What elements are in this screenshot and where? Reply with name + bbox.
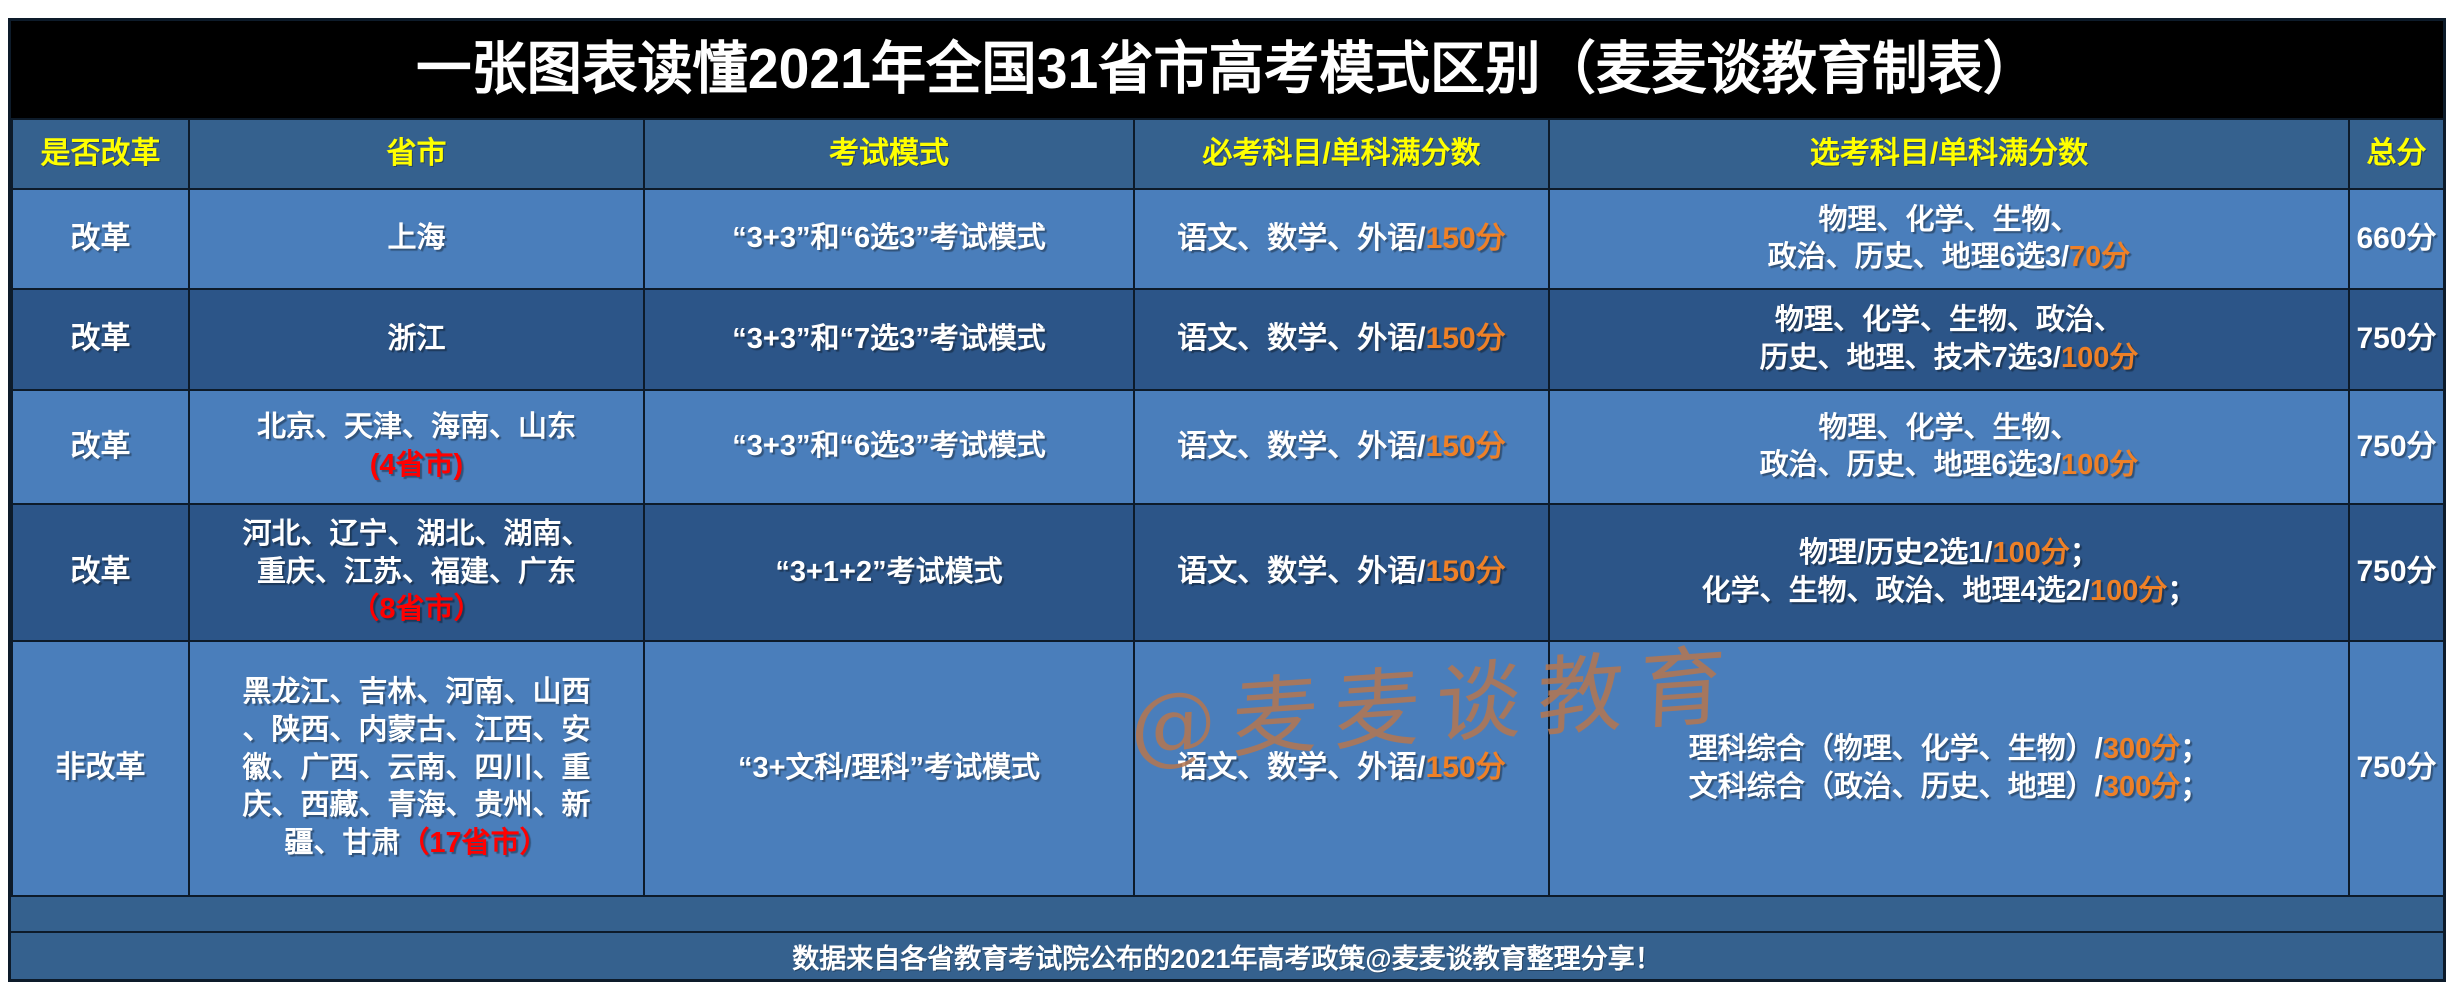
cell-provinces: 浙江 [189, 289, 644, 390]
optional-line: 物理/历史2选1/100分； [1554, 535, 2344, 572]
cell-total-score: 750分 [2349, 641, 2444, 896]
cell-optional-subjects: 物理、化学、生物、政治、 历史、地理、技术7选3/100分 [1549, 289, 2349, 390]
required-subject-list: 语文、数学、外语/ [1177, 222, 1425, 255]
page-title: 一张图表读懂2021年全国31省市高考模式区别（麦麦谈教育制表） [416, 41, 2038, 98]
province-line: 、陕西、内蒙古、江西、安 [194, 712, 639, 750]
optional-text: 政治、历史、地理6选3/ [1760, 449, 2061, 481]
cell-reform-status: 非改革 [12, 641, 189, 896]
cell-reform-status: 改革 [12, 189, 189, 289]
column-header-province: 省市 [189, 119, 644, 189]
optional-line: 化学、生物、政治、地理4选2/100分； [1554, 573, 2344, 610]
cell-exam-mode: “3+1+2”考试模式 [644, 504, 1134, 641]
required-score: 150分 [1426, 555, 1506, 588]
table-row: 改革 河北、辽宁、湖北、湖南、 重庆、江苏、福建、广东 （8省市） “3+1+2… [12, 504, 2444, 641]
cell-exam-mode: “3+3”和“6选3”考试模式 [644, 390, 1134, 504]
optional-line: 物理、化学、生物、 [1554, 202, 2344, 239]
cell-exam-mode: “3+3”和“6选3”考试模式 [644, 189, 1134, 289]
optional-text: 化学、生物、政治、地理4选2/ [1702, 575, 2090, 607]
cell-optional-subjects: 物理/历史2选1/100分； 化学、生物、政治、地理4选2/100分； [1549, 504, 2349, 641]
required-score: 150分 [1426, 322, 1506, 355]
optional-line: 文科综合（政治、历史、地理）/300分； [1554, 769, 2344, 806]
table-frame: 一张图表读懂2021年全国31省市高考模式区别（麦麦谈教育制表） 是否改革 省市… [8, 18, 2446, 982]
province-line: 河北、辽宁、湖北、湖南、 [194, 516, 639, 554]
optional-line: 理科综合（物理、化学、生物）/300分； [1554, 731, 2344, 768]
province-line: 疆、甘肃 [284, 827, 400, 859]
optional-line: 政治、历史、地理6选3/70分 [1554, 239, 2344, 276]
optional-score: 100分 [2061, 449, 2138, 481]
cell-reform-status: 改革 [12, 289, 189, 390]
optional-score: 70分 [2069, 241, 2130, 273]
optional-text: 政治、历史、地理6选3/ [1768, 241, 2069, 273]
optional-text: 物理、化学、生物、 [1818, 412, 2079, 444]
optional-line: 物理、化学、生物、政治、 [1554, 302, 2344, 339]
optional-score: 300分 [2103, 733, 2180, 765]
cell-provinces: 黑龙江、吉林、河南、山西 、陕西、内蒙古、江西、安 徽、广西、云南、四川、重 庆… [189, 641, 644, 896]
cell-optional-subjects: 物理、化学、生物、 政治、历史、地理6选3/70分 [1549, 189, 2349, 289]
table-row: 改革 浙江 “3+3”和“7选3”考试模式 语文、数学、外语/150分 物理、化… [12, 289, 2444, 390]
table-body: 改革 上海 “3+3”和“6选3”考试模式 语文、数学、外语/150分 物理、化… [12, 189, 2444, 896]
province-line: 黑龙江、吉林、河南、山西 [194, 674, 639, 712]
optional-text: 文科综合（政治、历史、地理）/ [1689, 771, 2103, 803]
cell-exam-mode: “3+3”和“7选3”考试模式 [644, 289, 1134, 390]
table-row: 改革 上海 “3+3”和“6选3”考试模式 语文、数学、外语/150分 物理、化… [12, 189, 2444, 289]
optional-tail: ； [2180, 771, 2209, 803]
optional-line: 历史、地理、技术7选3/100分 [1554, 340, 2344, 377]
optional-text: 理科综合（物理、化学、生物）/ [1689, 733, 2103, 765]
optional-line: 政治、历史、地理6选3/100分 [1554, 447, 2344, 484]
optional-tail: ； [2167, 575, 2196, 607]
cell-required-subjects: 语文、数学、外语/150分 [1134, 189, 1549, 289]
cell-optional-subjects: 理科综合（物理、化学、生物）/300分； 文科综合（政治、历史、地理）/300分… [1549, 641, 2349, 896]
cell-total-score: 660分 [2349, 189, 2444, 289]
table-row: 非改革 黑龙江、吉林、河南、山西 、陕西、内蒙古、江西、安 徽、广西、云南、四川… [12, 641, 2444, 896]
cell-required-subjects: 语文、数学、外语/150分 [1134, 504, 1549, 641]
cell-reform-status: 改革 [12, 504, 189, 641]
source-note: 数据来自各省教育考试院公布的2021年高考政策@麦麦谈教育整理分享！ [792, 937, 1661, 976]
required-score: 150分 [1426, 751, 1506, 784]
optional-line: 物理、化学、生物、 [1554, 410, 2344, 447]
cell-optional-subjects: 物理、化学、生物、 政治、历史、地理6选3/100分 [1549, 390, 2349, 504]
required-score: 150分 [1426, 222, 1506, 255]
required-subject-list: 语文、数学、外语/ [1177, 322, 1425, 355]
title-bar: 一张图表读懂2021年全国31省市高考模式区别（麦麦谈教育制表） [11, 21, 2443, 118]
cell-total-score: 750分 [2349, 289, 2444, 390]
column-header-total-score: 总分 [2349, 119, 2444, 189]
table-row: 改革 北京、天津、海南、山东 (4省市) “3+3”和“6选3”考试模式 语文、… [12, 390, 2444, 504]
province-line: 北京、天津、海南、山东 [194, 409, 639, 447]
cell-provinces: 北京、天津、海南、山东 (4省市) [189, 390, 644, 504]
province-count: （17省市） [400, 827, 548, 859]
cell-required-subjects: 语文、数学、外语/150分 [1134, 289, 1549, 390]
province-line: 庆、西藏、青海、贵州、新 [194, 787, 639, 825]
optional-score: 300分 [2103, 771, 2180, 803]
cell-provinces: 河北、辽宁、湖北、湖南、 重庆、江苏、福建、广东 （8省市） [189, 504, 644, 641]
optional-score: 100分 [2090, 575, 2167, 607]
optional-score: 100分 [1992, 537, 2069, 569]
province-line: 上海 [194, 220, 639, 257]
infographic-page: 一张图表读懂2021年全国31省市高考模式区别（麦麦谈教育制表） 是否改革 省市… [0, 0, 2454, 1000]
column-header-reform: 是否改革 [12, 119, 189, 189]
required-subject-list: 语文、数学、外语/ [1177, 555, 1425, 588]
optional-tail: ； [2070, 537, 2099, 569]
optional-text: 物理/历史2选1/ [1799, 537, 1992, 569]
optional-text: 历史、地理、技术7选3/ [1760, 342, 2061, 374]
cell-provinces: 上海 [189, 189, 644, 289]
source-footer: 数据来自各省教育考试院公布的2021年高考政策@麦麦谈教育整理分享！ [11, 931, 2443, 979]
required-score: 150分 [1426, 430, 1506, 463]
province-line: 浙江 [194, 321, 639, 358]
province-count: (4省市) [194, 447, 639, 485]
province-line: 徽、广西、云南、四川、重 [194, 750, 639, 788]
gaokao-mode-comparison-table: 是否改革 省市 考试模式 必考科目/单科满分数 选考科目/单科满分数 总分 改革… [11, 118, 2445, 897]
optional-score: 100分 [2061, 342, 2138, 374]
cell-total-score: 750分 [2349, 390, 2444, 504]
table-header-row: 是否改革 省市 考试模式 必考科目/单科满分数 选考科目/单科满分数 总分 [12, 119, 2444, 189]
column-header-optional-subjects: 选考科目/单科满分数 [1549, 119, 2349, 189]
column-header-exam-mode: 考试模式 [644, 119, 1134, 189]
optional-text: 物理、化学、生物、 [1818, 204, 2079, 236]
optional-tail: ； [2180, 733, 2209, 765]
province-count: （8省市） [194, 591, 639, 629]
cell-required-subjects: 语文、数学、外语/150分 [1134, 390, 1549, 504]
cell-reform-status: 改革 [12, 390, 189, 504]
province-line-with-count: 疆、甘肃（17省市） [194, 825, 639, 863]
cell-required-subjects: 语文、数学、外语/150分 [1134, 641, 1549, 896]
province-line: 重庆、江苏、福建、广东 [194, 554, 639, 592]
required-subject-list: 语文、数学、外语/ [1177, 430, 1425, 463]
cell-total-score: 750分 [2349, 504, 2444, 641]
required-subject-list: 语文、数学、外语/ [1177, 751, 1425, 784]
optional-text: 物理、化学、生物、政治、 [1775, 304, 2123, 336]
column-header-required-subjects: 必考科目/单科满分数 [1134, 119, 1549, 189]
cell-exam-mode: “3+文科/理科”考试模式 [644, 641, 1134, 896]
